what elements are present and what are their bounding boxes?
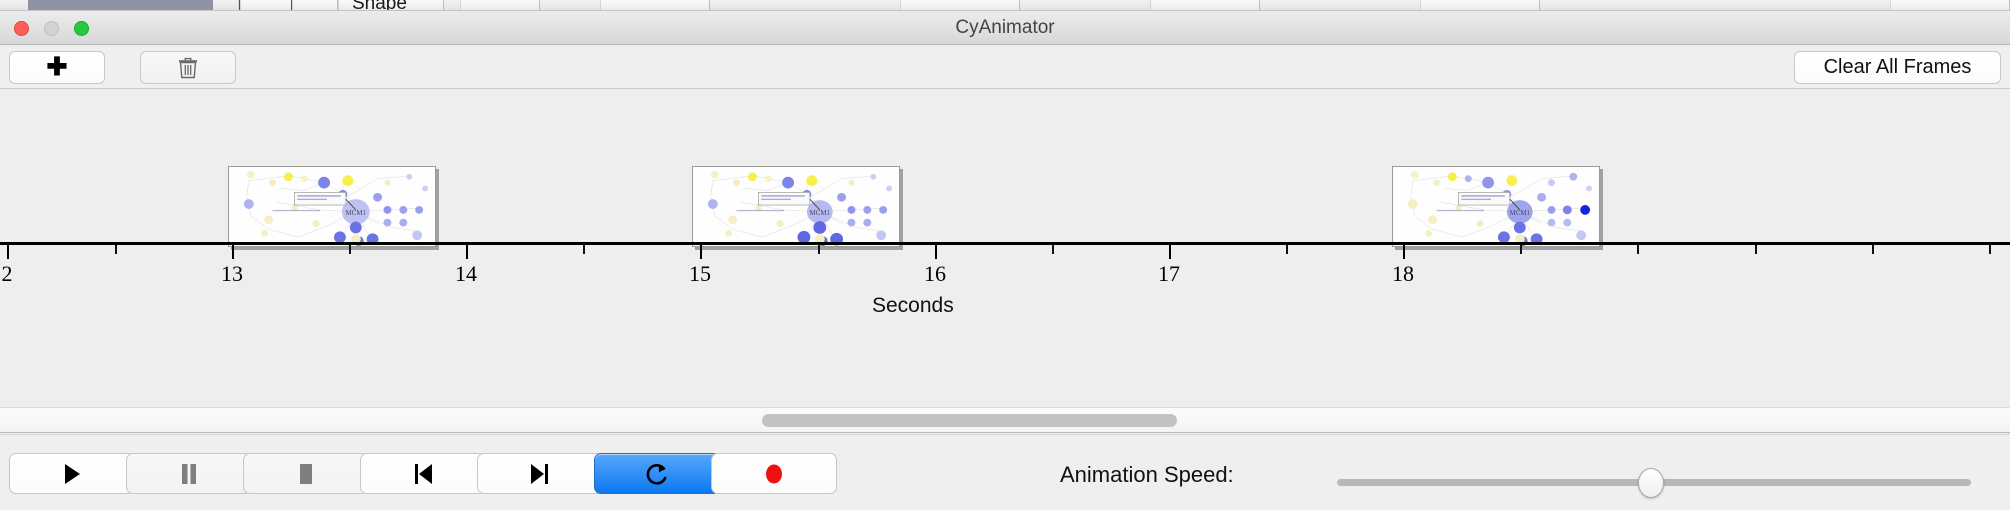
background-tab-7 <box>1420 0 1540 11</box>
playback-control-bar: Animation Speed: <box>0 434 2010 510</box>
axis-tick-minor <box>1989 245 1991 254</box>
cyanimator-window: | | Shape CyAnimator ✚ Clear All Frames <box>0 0 2010 510</box>
axis-tick-major <box>466 245 468 259</box>
animation-speed-label: Animation Speed: <box>1060 462 1234 488</box>
network-thumbnail-image: MCM1 <box>693 167 899 246</box>
axis-tick-minor <box>349 245 351 254</box>
stop-icon <box>296 462 316 486</box>
clear-all-frames-label: Clear All Frames <box>1824 56 1972 79</box>
background-window-label: Shape <box>352 0 407 11</box>
axis-tick-major <box>700 245 702 259</box>
axis-tick-minor <box>1637 245 1639 254</box>
background-tab-4 <box>600 0 710 11</box>
axis-tick-minor <box>115 245 117 254</box>
loop-icon <box>645 461 669 487</box>
background-tab-1 <box>238 0 338 11</box>
axis-tick-major <box>1169 245 1171 259</box>
play-button[interactable] <box>9 453 135 494</box>
skip-forward-button[interactable] <box>477 453 603 494</box>
toolbar: ✚ Clear All Frames <box>0 45 2010 89</box>
frame-thumbnail-1[interactable]: MCM1 <box>228 166 436 247</box>
network-thumbnail-image: MCM1 <box>229 167 435 246</box>
loop-button[interactable] <box>594 453 720 494</box>
svg-text:MCM1: MCM1 <box>810 210 831 217</box>
pause-icon <box>179 462 199 486</box>
axis-tick-major <box>935 245 937 259</box>
background-dark-tab <box>28 0 213 11</box>
axis-tick-minor <box>1872 245 1874 254</box>
axis-tick-major <box>232 245 234 259</box>
animation-speed-slider-knob[interactable] <box>1638 468 1664 498</box>
axis-tick-label: 15 <box>689 261 711 287</box>
window-title: CyAnimator <box>0 11 2010 45</box>
title-bar: CyAnimator <box>0 11 2010 45</box>
skip-back-icon <box>411 462 435 486</box>
record-button[interactable] <box>711 453 837 494</box>
delete-frame-button[interactable] <box>140 51 236 84</box>
network-thumbnail-image: MCM1 <box>1393 167 1599 246</box>
axis-tick-minor <box>1520 245 1522 254</box>
svg-text:MCM1: MCM1 <box>1510 210 1531 217</box>
axis-tick-minor <box>583 245 585 254</box>
skip-forward-icon <box>528 462 552 486</box>
axis-tick-label: 13 <box>221 261 243 287</box>
stop-button[interactable] <box>243 453 369 494</box>
background-tab-5 <box>900 0 1020 11</box>
play-icon <box>61 462 83 486</box>
add-frame-button[interactable]: ✚ <box>9 51 105 84</box>
plus-icon: ✚ <box>47 55 68 80</box>
svg-text:MCM1: MCM1 <box>346 210 367 217</box>
background-tab-8 <box>1890 0 2010 11</box>
axis-tick-minor <box>818 245 820 254</box>
axis-tick-minor <box>1052 245 1054 254</box>
background-tab-3 <box>460 0 540 11</box>
axis-tick-major <box>7 245 9 259</box>
skip-back-button[interactable] <box>360 453 486 494</box>
clear-all-frames-button[interactable]: Clear All Frames <box>1794 51 2001 84</box>
frame-thumbnail-3[interactable]: MCM1 <box>1392 166 1600 247</box>
axis-tick-label: 17 <box>1158 261 1180 287</box>
background-tab-6 <box>1150 0 1260 11</box>
background-window-strip: | | Shape <box>0 0 2010 11</box>
axis-tick-label: 2 <box>2 261 13 287</box>
record-icon <box>762 462 786 486</box>
frame-thumbnail-2[interactable]: MCM1 <box>692 166 900 247</box>
axis-tick-minor <box>1755 245 1757 254</box>
trash-icon <box>178 57 198 79</box>
timeline-panel[interactable]: MCM1 <box>0 89 2010 407</box>
pause-button[interactable] <box>126 453 252 494</box>
horizontal-scrollbar-track[interactable] <box>0 407 2010 433</box>
axis-title-seconds: Seconds <box>872 294 954 318</box>
axis-tick-label: 14 <box>455 261 477 287</box>
axis-tick-major <box>1403 245 1405 259</box>
axis-tick-minor <box>1286 245 1288 254</box>
axis-tick-label: 18 <box>1392 261 1414 287</box>
axis-tick-label: 16 <box>924 261 946 287</box>
timeline-axis <box>0 242 2010 245</box>
horizontal-scrollbar-thumb[interactable] <box>762 414 1177 427</box>
